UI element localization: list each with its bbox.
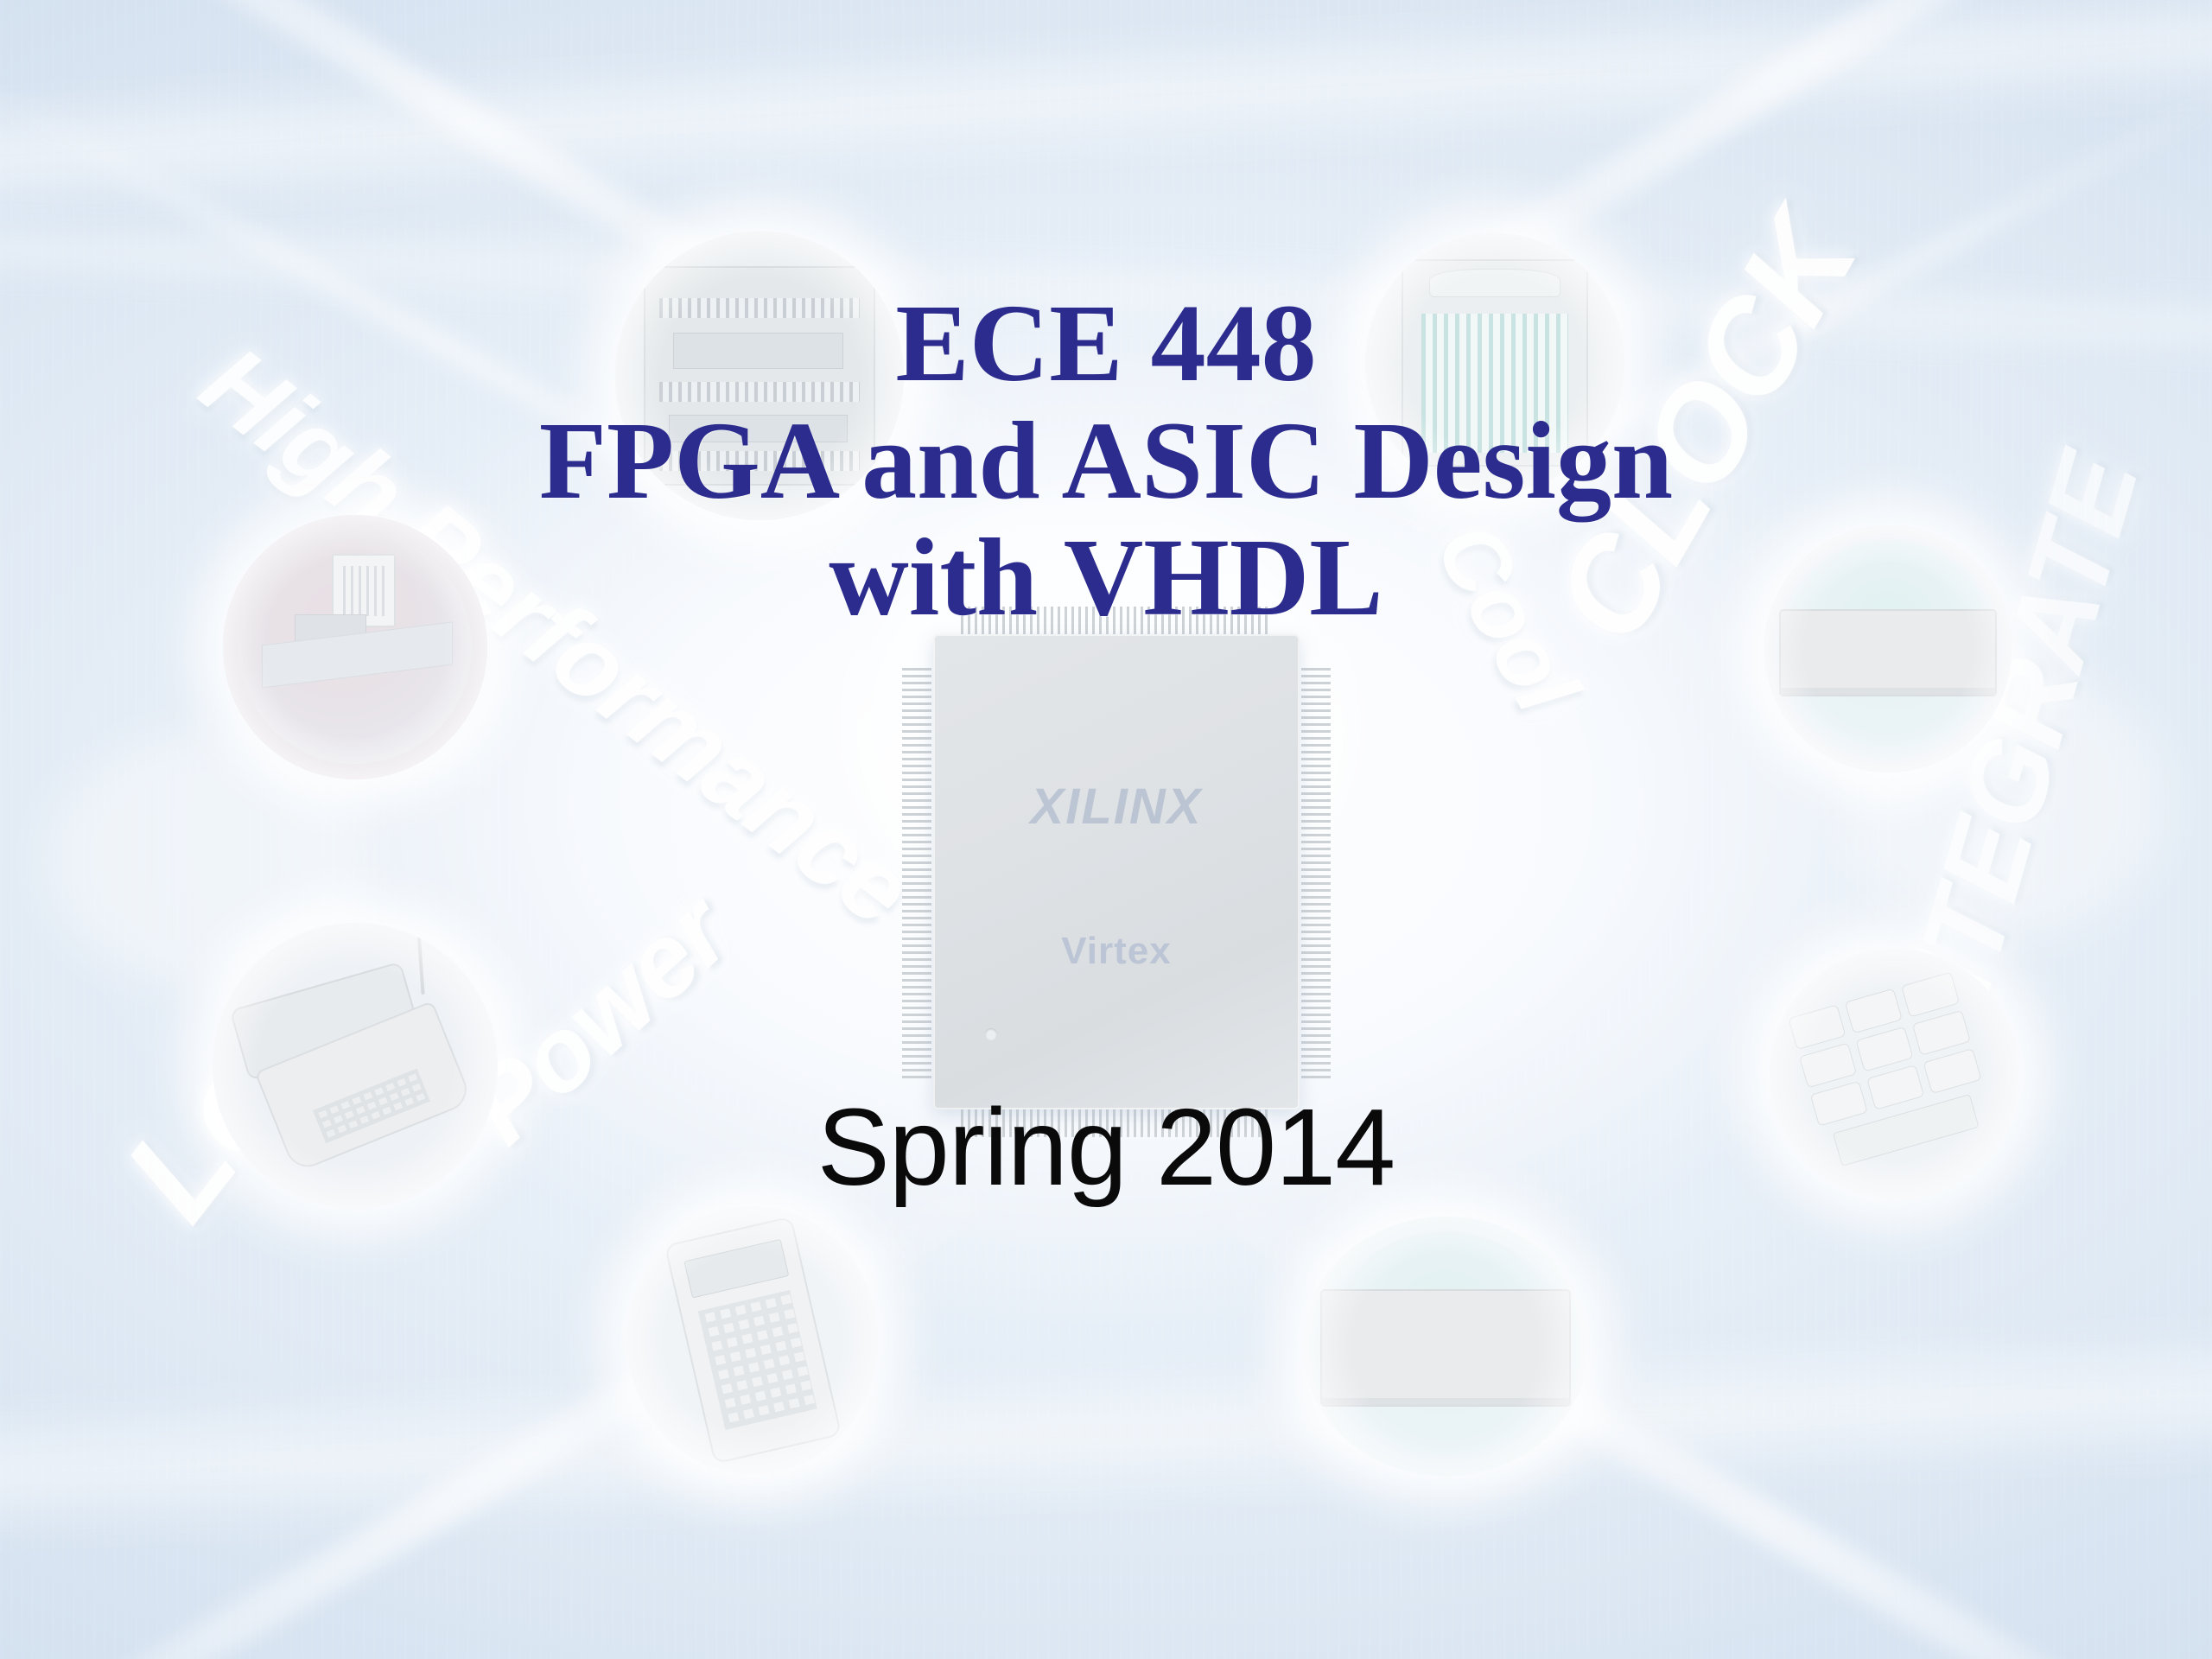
slide-subtitle: Spring 2014 (0, 1084, 2212, 1210)
keypad-key (1845, 988, 1903, 1033)
keypad-key (1799, 1042, 1857, 1087)
calculator-illustration (664, 1216, 842, 1465)
title-line-3: with VHDL (0, 519, 2212, 637)
keypad-key (1912, 1010, 1970, 1055)
calculator-keypad (698, 1290, 817, 1429)
calculator-shell (664, 1216, 842, 1465)
chip-pin1-dimple (985, 1028, 997, 1040)
title-line-2: FPGA and ASIC Design (0, 403, 2212, 520)
chip-brand-label: XILINX (900, 778, 1332, 836)
chip-pins-left (902, 665, 931, 1078)
keypad-key (1855, 1027, 1913, 1071)
set-top-box-body (1320, 1289, 1571, 1407)
slide-title-block: ECE 448 FPGA and ASIC Design with VHDL (0, 285, 2212, 637)
chip-pins-right (1301, 665, 1331, 1078)
handheld-calculator-photo (627, 1206, 878, 1474)
phone-antenna (417, 937, 425, 995)
chip-package-body (933, 634, 1300, 1109)
keypad-key (1788, 1004, 1846, 1049)
qfp-chip-graphic: XILINX Virtex (900, 605, 1332, 1139)
optical-disc (1320, 1232, 1571, 1460)
chip-sub-label: Virtex (900, 930, 1332, 973)
presentation-slide: High Performance Cool CLOCK Low Power IN… (0, 0, 2212, 1659)
set-top-box-photo (1303, 1217, 1588, 1476)
phone-flip-lid (229, 961, 420, 1080)
calculator-display (683, 1239, 789, 1298)
keypad-key (1901, 972, 1959, 1017)
title-line-1: ECE 448 (0, 285, 2212, 403)
